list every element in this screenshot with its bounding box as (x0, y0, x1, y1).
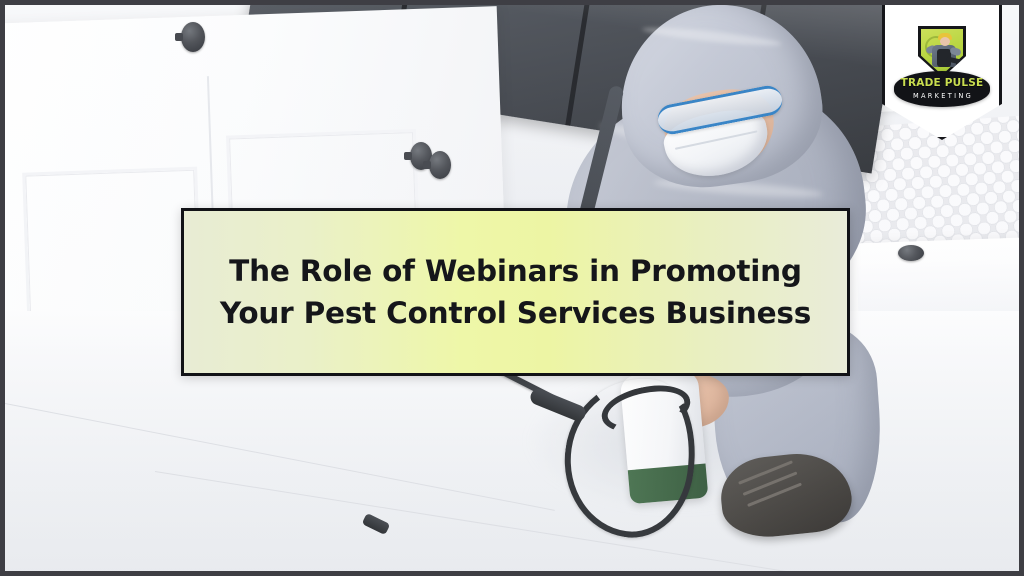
cabinet-knob-icon (181, 22, 205, 52)
feature-image-root: The Role of Webinars in Promoting Your P… (0, 0, 1024, 576)
brand-name-badge: TRADE PULSE MARKETING (894, 71, 990, 107)
brand-name-secondary: MARKETING (911, 93, 973, 100)
photo-stage: The Role of Webinars in Promoting Your P… (5, 5, 1019, 571)
cabinet-knob-icon (429, 151, 451, 179)
page-title: The Role of Webinars in Promoting Your P… (184, 250, 847, 334)
brand-name-primary: TRADE PULSE (901, 78, 984, 89)
title-banner: The Role of Webinars in Promoting Your P… (181, 208, 850, 376)
title-line-1: The Role of Webinars in Promoting (210, 250, 821, 292)
title-line-2: Your Pest Control Services Business (210, 292, 821, 334)
